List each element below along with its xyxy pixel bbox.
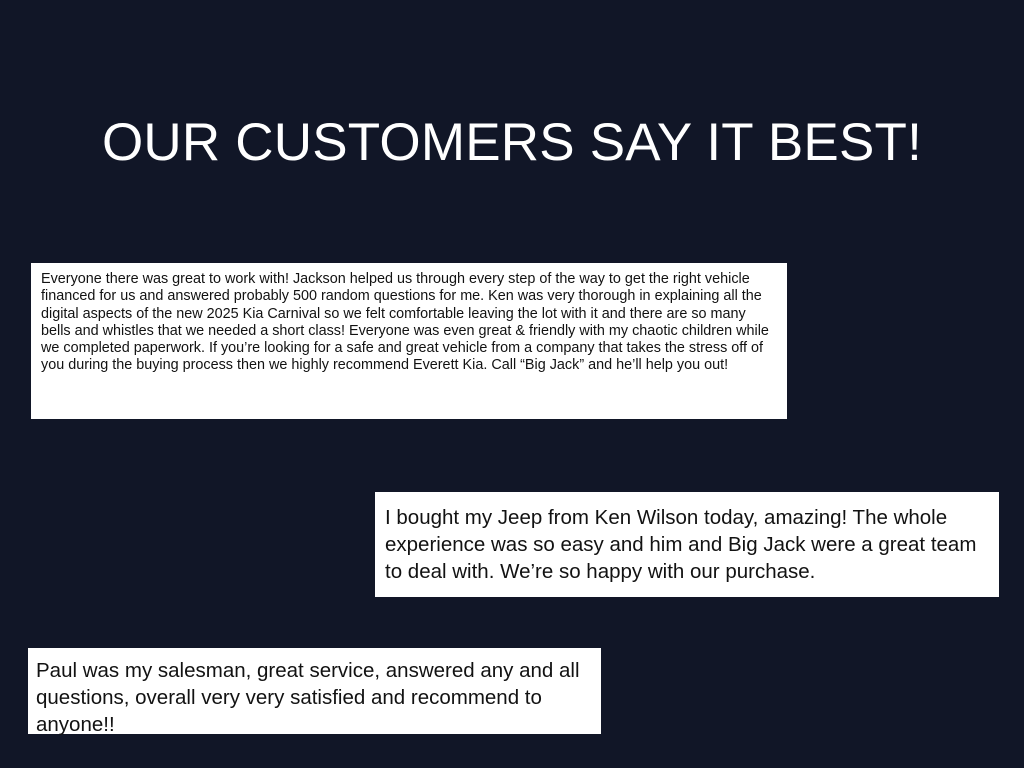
testimonial-card-3: Paul was my salesman, great service, ans… bbox=[28, 648, 601, 734]
testimonial-text: I bought my Jeep from Ken Wilson today, … bbox=[385, 504, 987, 585]
presentation-slide: OUR CUSTOMERS SAY IT BEST! Everyone ther… bbox=[0, 0, 1024, 768]
testimonial-card-2: I bought my Jeep from Ken Wilson today, … bbox=[375, 492, 999, 597]
page-title: OUR CUSTOMERS SAY IT BEST! bbox=[0, 112, 1024, 174]
testimonial-text: Paul was my salesman, great service, ans… bbox=[36, 657, 591, 738]
testimonial-card-1: Everyone there was great to work with! J… bbox=[31, 263, 787, 419]
testimonial-text: Everyone there was great to work with! J… bbox=[41, 271, 777, 375]
